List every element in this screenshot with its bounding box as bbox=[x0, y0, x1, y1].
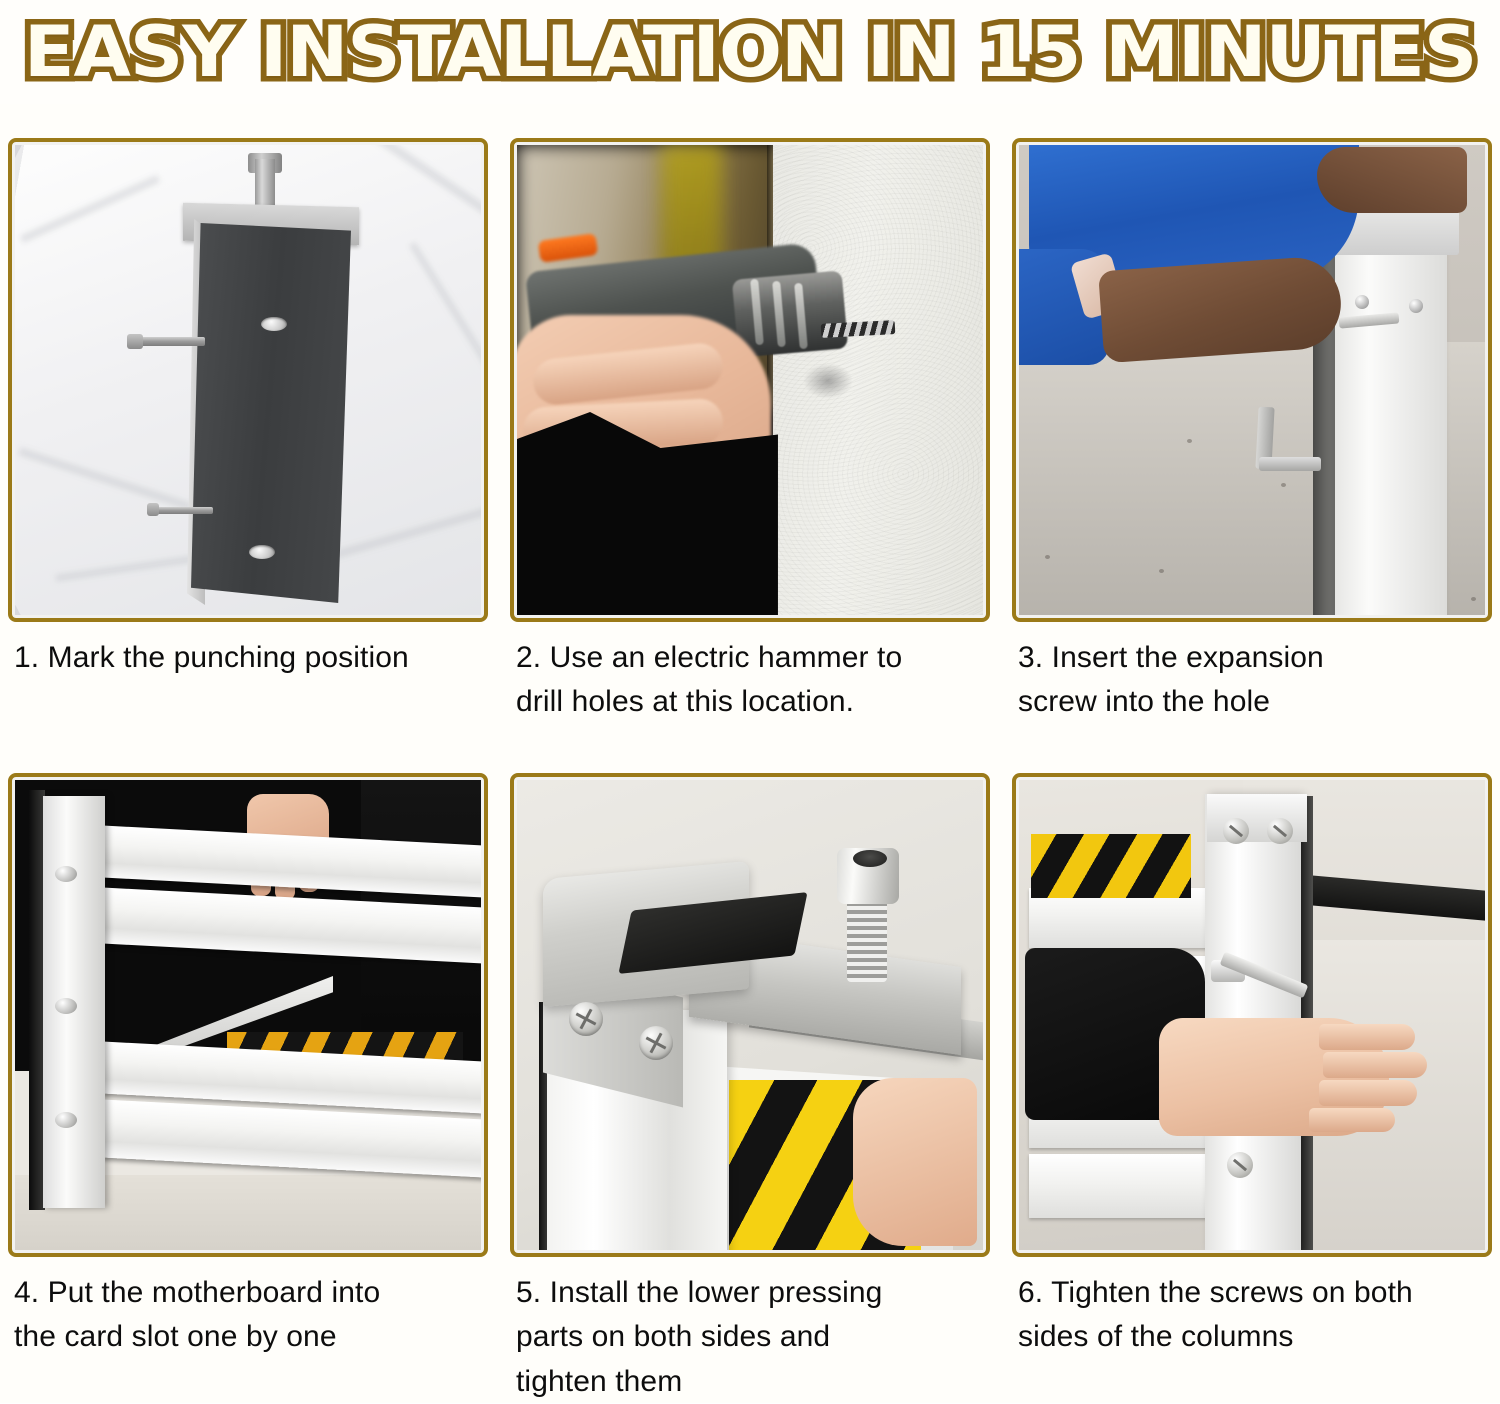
page-title: EASY INSTALLATION IN 15 MINUTES bbox=[24, 17, 1476, 87]
barrier-board bbox=[1029, 1154, 1211, 1218]
caption-line: 5. Install the lower pressing bbox=[516, 1271, 986, 1315]
caption-line: tighten them bbox=[516, 1360, 986, 1404]
title-banner: EASY INSTALLATION IN 15 MINUTES bbox=[0, 0, 1500, 104]
scene-marking-position bbox=[15, 145, 481, 615]
scene-insert-expansion-screw bbox=[1019, 145, 1485, 615]
worker-upper-arm bbox=[1317, 147, 1467, 213]
step-card-2: 2. Use an electric hammer to drill holes… bbox=[510, 138, 990, 725]
step-caption-6: 6. Tighten the screws on both sides of t… bbox=[1012, 1271, 1492, 1360]
step-caption-3: 3. Insert the expansion screw into the h… bbox=[1012, 636, 1492, 725]
caption-line: 2. Use an electric hammer to bbox=[516, 636, 986, 680]
step-photo-2 bbox=[510, 138, 990, 622]
step-caption-5: 5. Install the lower pressing parts on b… bbox=[510, 1271, 990, 1404]
bracket-screw bbox=[569, 1002, 603, 1036]
lower-mark-hole bbox=[249, 545, 275, 559]
column-screw bbox=[1227, 1152, 1253, 1178]
steps-row-bottom: 4. Put the motherboard into the card slo… bbox=[8, 773, 1492, 1404]
step-caption-2: 2. Use an electric hammer to drill holes… bbox=[510, 636, 990, 725]
step-photo-6 bbox=[1012, 773, 1492, 1257]
step-caption-4: 4. Put the motherboard into the card slo… bbox=[8, 1271, 488, 1360]
hazard-stripe-band bbox=[1031, 834, 1191, 898]
step-card-3: 3. Insert the expansion screw into the h… bbox=[1012, 138, 1492, 725]
column-screw bbox=[1223, 818, 1249, 844]
step-photo-4 bbox=[8, 773, 488, 1257]
upper-mark-hole bbox=[261, 317, 287, 331]
barrier-plank bbox=[103, 1100, 481, 1179]
caption-line: sides of the columns bbox=[1018, 1315, 1488, 1359]
scene-lower-pressing-parts bbox=[517, 780, 983, 1250]
step-card-5: 5. Install the lower pressing parts on b… bbox=[510, 773, 990, 1404]
worker-forearm bbox=[1098, 255, 1344, 364]
post-bolt bbox=[55, 866, 77, 882]
step-card-4: 4. Put the motherboard into the card slo… bbox=[8, 773, 488, 1404]
drill-chuck bbox=[732, 270, 848, 357]
lower-marking-rod bbox=[153, 507, 213, 514]
top-bolt-shaft-icon bbox=[255, 159, 275, 211]
caption-line: drill holes at this location. bbox=[516, 680, 986, 724]
scene-tighten-screws bbox=[1019, 780, 1485, 1250]
post-bolt bbox=[55, 998, 77, 1014]
column-screw bbox=[1409, 299, 1423, 313]
step-caption-1: 1. Mark the punching position bbox=[8, 636, 488, 680]
step-photo-3 bbox=[1012, 138, 1492, 622]
bracket-screw bbox=[639, 1026, 673, 1060]
caption-line: parts on both sides and bbox=[516, 1315, 986, 1359]
step-photo-5 bbox=[510, 773, 990, 1257]
caption-line: 1. Mark the punching position bbox=[14, 636, 484, 680]
caption-line: 3. Insert the expansion bbox=[1018, 636, 1488, 680]
installation-guide-page: EASY INSTALLATION IN 15 MINUTES bbox=[0, 0, 1500, 1403]
column-screw bbox=[1355, 295, 1369, 309]
steps-row-top: 1. Mark the punching position bbox=[8, 138, 1492, 725]
post-bolt bbox=[55, 1112, 77, 1128]
step-card-1: 1. Mark the punching position bbox=[8, 138, 488, 725]
step-card-6: 6. Tighten the screws on both sides of t… bbox=[1012, 773, 1492, 1404]
caption-line: the card slot one by one bbox=[14, 1315, 484, 1359]
column-screw bbox=[1267, 818, 1293, 844]
scene-insert-motherboard bbox=[15, 780, 481, 1250]
step-photo-1 bbox=[8, 138, 488, 622]
hand-supporting-part bbox=[853, 1078, 977, 1246]
caption-line: 6. Tighten the screws on both bbox=[1018, 1271, 1488, 1315]
caption-line: screw into the hole bbox=[1018, 680, 1488, 724]
upper-marking-rod bbox=[133, 337, 205, 346]
caption-line: 4. Put the motherboard into bbox=[14, 1271, 484, 1315]
scene-drill-holes bbox=[517, 145, 983, 615]
